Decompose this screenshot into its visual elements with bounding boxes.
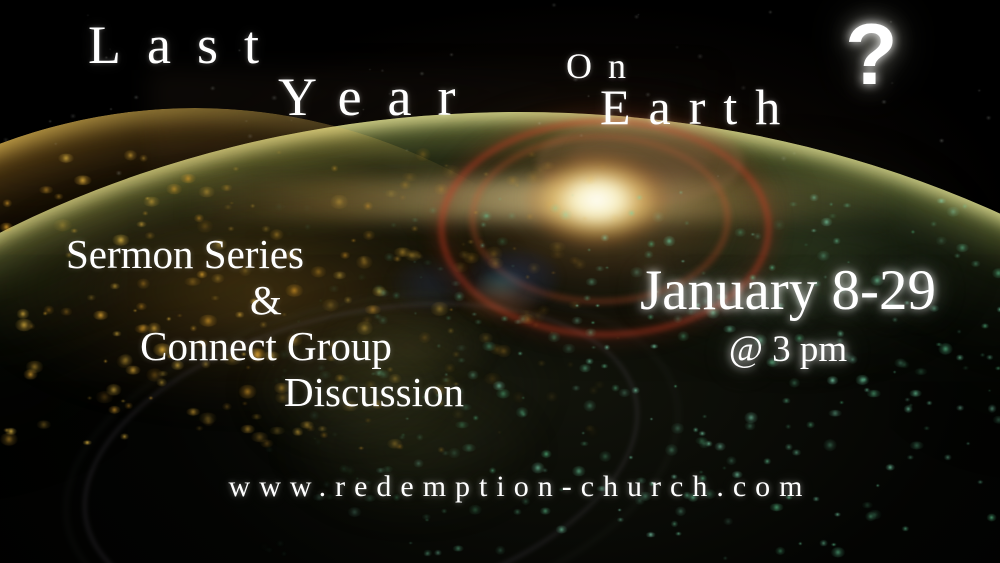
event-time: @ 3 pm [612, 331, 964, 368]
flare-ghost-tan-2 [570, 128, 710, 186]
event-date-block: January 8-29 @ 3 pm [612, 262, 964, 368]
series-line-4: Discussion [56, 370, 476, 416]
title-word-earth: Earth [600, 78, 798, 136]
sermon-series-poster: Last Year On Earth ? Sermon Series & Con… [0, 0, 1000, 563]
title-word-year: Year [278, 66, 482, 128]
flare-ghost-teal [478, 268, 524, 298]
website-url[interactable]: www.redemption-church.com [0, 470, 1000, 504]
title-word-last: Last [88, 14, 285, 76]
event-date-range: January 8-29 [612, 262, 964, 319]
series-line-2: & [56, 278, 476, 324]
series-description: Sermon Series & Connect Group Discussion [56, 232, 476, 416]
title-question-mark: ? [845, 12, 898, 98]
series-line-3: Connect Group [56, 324, 476, 370]
series-line-1: Sermon Series [56, 232, 476, 278]
sun-horizontal-streak [180, 178, 900, 220]
flare-ghost-blue-1 [468, 248, 560, 308]
